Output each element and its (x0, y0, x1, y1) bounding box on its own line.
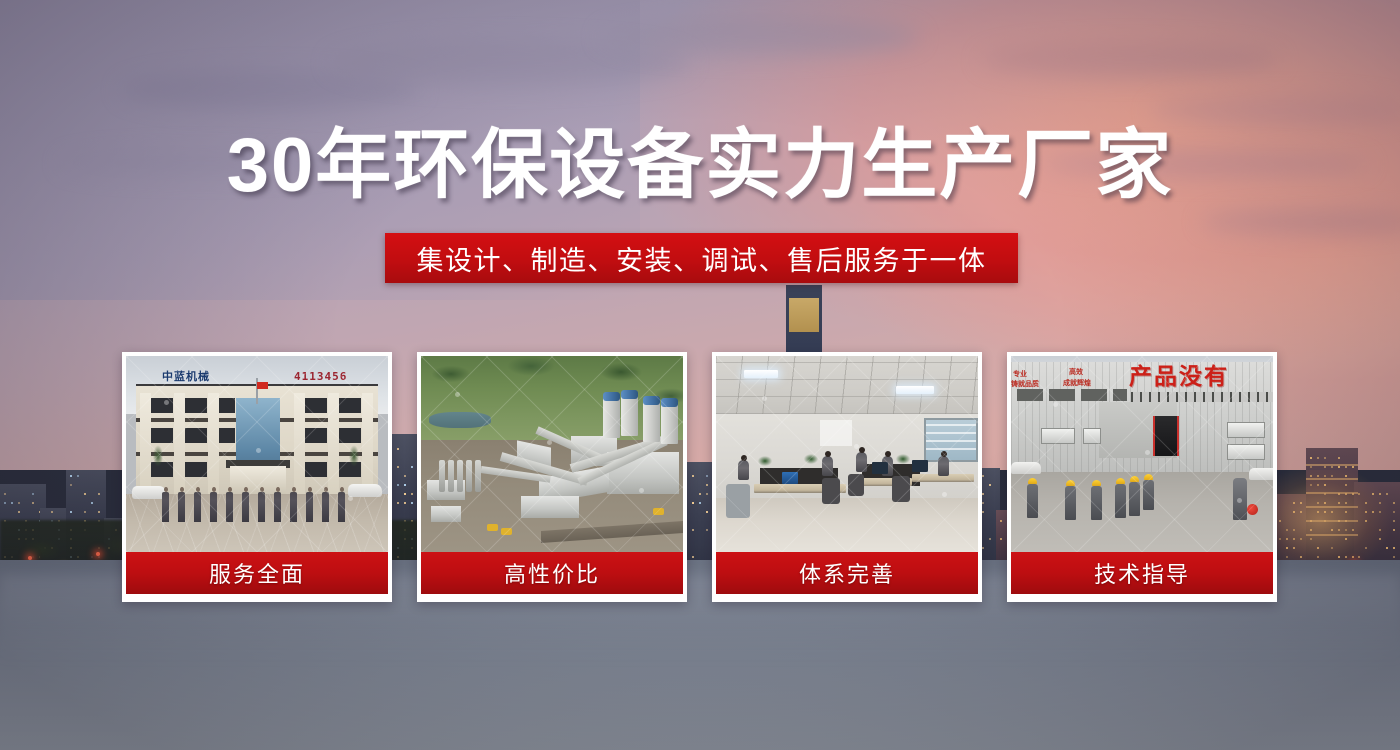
factory-workers-briefing-photo: 产品没有 专业 铸就品质 高效 成就辉煌 (1011, 356, 1273, 552)
office-interior-staff-photo (716, 356, 978, 552)
factory-slogan-right: 高效 (1069, 368, 1083, 376)
feature-card-label-text: 体系完善 (799, 557, 895, 589)
page-title: 30年环保设备实力生产厂家 (0, 128, 1400, 204)
feature-card-label: 服务全面 (126, 552, 388, 594)
factory-slogan-left: 专业 (1013, 370, 1027, 378)
cloud-shape (600, 18, 920, 56)
feature-card-label-text: 服务全面 (209, 557, 305, 589)
feature-card[interactable]: 高性价比 (417, 352, 687, 602)
cloud-shape (1150, 95, 1400, 127)
subtitle-banner: 集设计、制造、安装、调试、售后服务于一体 (385, 233, 1018, 283)
feature-card[interactable]: 中蓝机械 4113456 (122, 352, 392, 602)
building-sign-text: 中蓝机械 (162, 370, 277, 383)
feature-card-label: 体系完善 (716, 552, 978, 594)
subtitle-text: 集设计、制造、安装、调试、售后服务于一体 (417, 239, 987, 278)
building-phone-text: 4113456 (294, 371, 382, 383)
feature-card-row: 中蓝机械 4113456 (122, 352, 1278, 602)
factory-slogan-right-sub: 成就辉煌 (1063, 379, 1091, 387)
feature-card[interactable]: 产品没有 专业 铸就品质 高效 成就辉煌 (1007, 352, 1277, 602)
feature-card-label: 技术指导 (1011, 552, 1273, 594)
cloud-shape (980, 42, 1280, 78)
promo-banner: 30年环保设备实力生产厂家 集设计、制造、安装、调试、售后服务于一体 (0, 0, 1400, 750)
office-building-staff-photo: 中蓝机械 4113456 (126, 356, 388, 552)
aerial-industrial-plant-photo (421, 356, 683, 552)
factory-slogan-left-sub: 铸就品质 (1011, 380, 1039, 388)
feature-card-label-text: 技术指导 (1094, 557, 1190, 589)
feature-card[interactable]: 体系完善 (712, 352, 982, 602)
factory-slogan-headline: 产品没有 (1129, 364, 1273, 390)
feature-card-label-text: 高性价比 (504, 557, 600, 589)
feature-card-label: 高性价比 (421, 552, 683, 594)
